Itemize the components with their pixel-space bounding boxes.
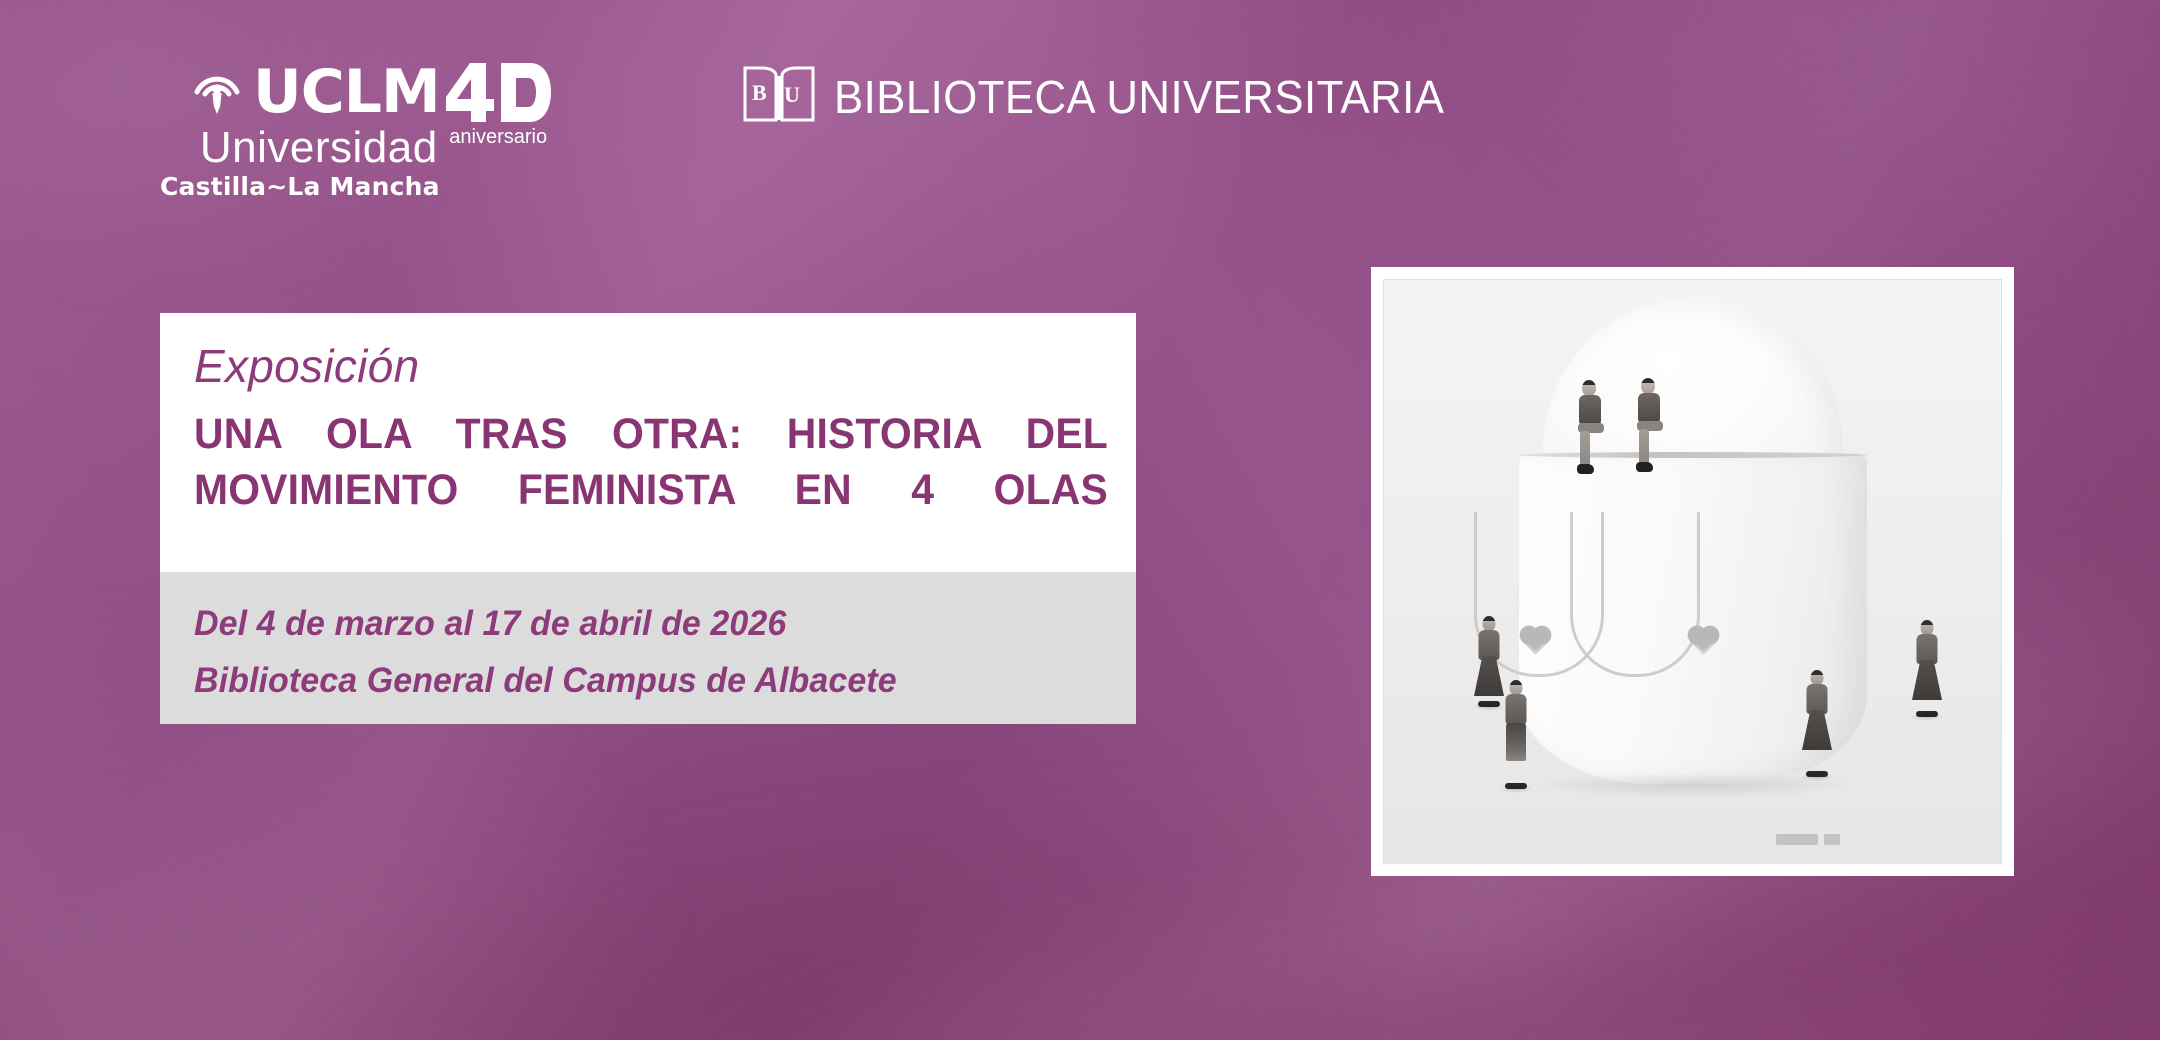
figurine-torso bbox=[1579, 395, 1601, 425]
figurine-torso bbox=[1506, 694, 1527, 724]
figurine-shin bbox=[1580, 431, 1590, 467]
uclm-universidad-label: Universidad bbox=[200, 125, 438, 171]
figurine-shadow bbox=[1910, 713, 1944, 721]
uclm-wordmark: UCLM bbox=[253, 65, 440, 120]
event-venue: Biblioteca General del Campus de Albacet… bbox=[194, 653, 1081, 710]
floor-mark bbox=[1776, 834, 1818, 845]
figurine-head bbox=[1921, 620, 1934, 635]
anniversary-40-logotype bbox=[446, 63, 551, 128]
svg-text:B: B bbox=[752, 80, 767, 105]
exhibition-photo-frame bbox=[1371, 267, 2014, 876]
figurine-head bbox=[1483, 616, 1496, 631]
uclm-region-label: Castilla~La Mancha bbox=[160, 172, 440, 201]
figurine-shoe bbox=[1577, 464, 1594, 474]
event-kicker: Exposición bbox=[194, 341, 1108, 392]
poster: UCLM Universidad Castilla~La Mancha aniv… bbox=[0, 0, 2160, 1040]
uclm-wordmark-row: UCLM bbox=[191, 62, 440, 123]
figurine-head bbox=[1641, 378, 1655, 394]
figurine-legs bbox=[1506, 723, 1526, 761]
uclm-logo: UCLM Universidad Castilla~La Mancha aniv… bbox=[160, 62, 551, 201]
biblioteca-universitaria-text: BIBLIOTECA UNIVERSITARIA bbox=[834, 70, 1444, 124]
event-dates: Del 4 de marzo al 17 de abril de 2026 bbox=[194, 596, 1081, 653]
figurine-torso bbox=[1917, 634, 1938, 664]
exhibition-photo bbox=[1383, 279, 2002, 864]
figurine-skirt bbox=[1912, 660, 1942, 700]
open-book-icon: B U bbox=[742, 62, 816, 131]
header: UCLM Universidad Castilla~La Mancha aniv… bbox=[0, 0, 2160, 230]
figurine-shoe bbox=[1636, 462, 1653, 472]
figurine-shadow bbox=[1800, 773, 1834, 781]
figurine-torso bbox=[1479, 630, 1500, 660]
biblioteca-universitaria-logo: B U BIBLIOTECA UNIVERSITARIA bbox=[742, 62, 1477, 131]
floor-mark bbox=[1824, 834, 1840, 845]
figurine-skirt bbox=[1802, 710, 1832, 750]
figurine-torso bbox=[1638, 393, 1660, 423]
event-title: UNA OLA TRAS OTRA: HISTORIA DEL MOVIMIEN… bbox=[194, 406, 1108, 576]
figurine-torso bbox=[1807, 684, 1828, 714]
torso-curve-right bbox=[1570, 512, 1700, 677]
figurine-standing-center-right bbox=[1796, 670, 1838, 772]
uclm-anniversary-badge: aniversario bbox=[446, 63, 551, 149]
event-title-panel: Exposición UNA OLA TRAS OTRA: HISTORIA D… bbox=[160, 313, 1136, 572]
figurine-standing-front-left bbox=[1496, 680, 1536, 784]
figurine-shin bbox=[1639, 429, 1649, 465]
uclm-logo-main: UCLM Universidad Castilla~La Mancha bbox=[160, 62, 440, 201]
radar-broadcast-icon bbox=[191, 62, 243, 123]
svg-text:U: U bbox=[784, 82, 800, 107]
vessel-rim bbox=[1519, 452, 1867, 458]
figurine-head bbox=[1510, 680, 1523, 695]
anniversary-label: aniversario bbox=[449, 126, 547, 149]
figurine-standing-right bbox=[1908, 620, 1946, 712]
figurine-shadow bbox=[1499, 785, 1533, 793]
figurine-head bbox=[1582, 380, 1596, 396]
figurine-head bbox=[1811, 670, 1824, 685]
event-details-panel: Del 4 de marzo al 17 de abril de 2026 Bi… bbox=[160, 572, 1136, 724]
